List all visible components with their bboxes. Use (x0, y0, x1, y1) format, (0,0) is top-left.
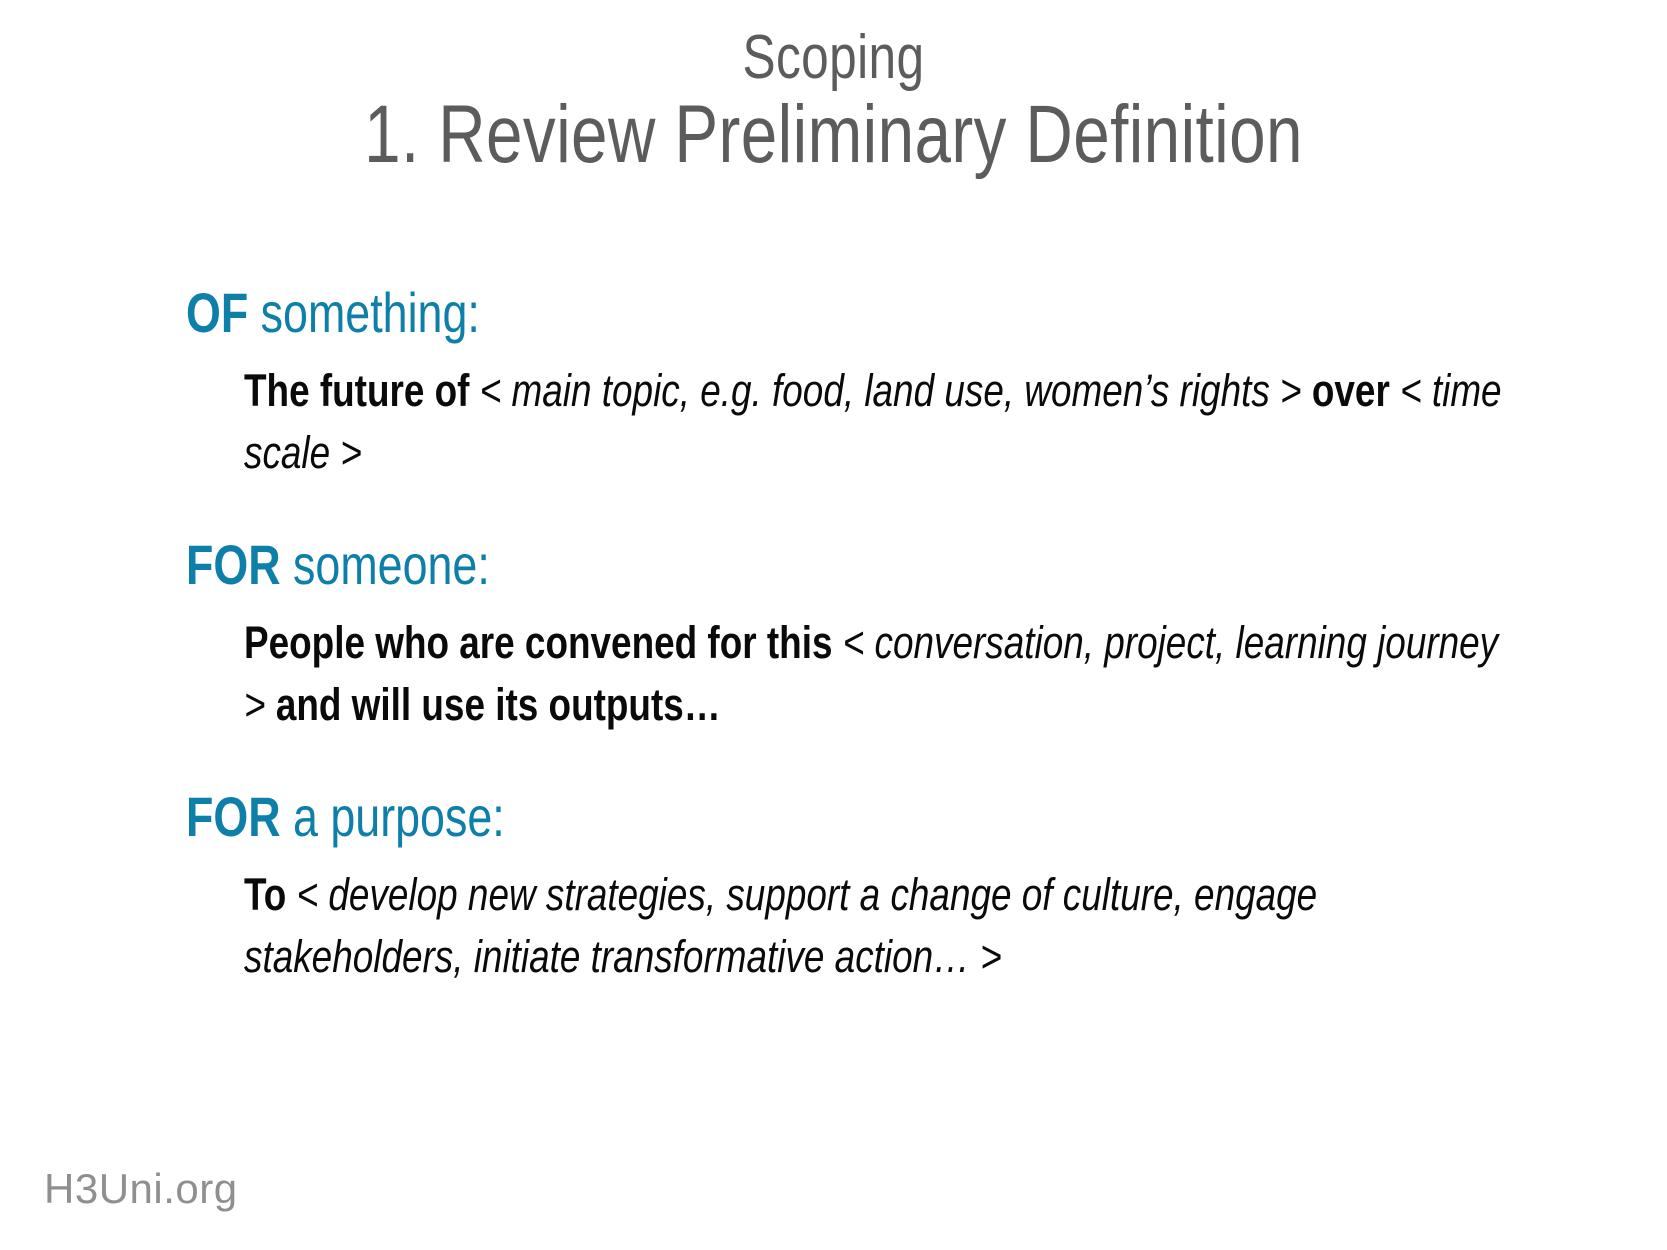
section-body-for-someone: People who are convened for this < conve… (244, 612, 1523, 736)
section-body-of-something: The future of < main topic, e.g. food, l… (244, 360, 1523, 484)
body-phrase-italic-2: women’s rights > (1024, 365, 1301, 416)
body-phrase-bold: People who are convened for this (244, 617, 832, 668)
body-phrase-bold: To (244, 869, 286, 920)
slide-title-block: Scoping 1. Review Preliminary Definition (0, 26, 1667, 178)
page-title: 1. Review Preliminary Definition (167, 92, 1501, 178)
section-for-a-purpose: FOR a purpose: To < develop new strategi… (186, 788, 1516, 988)
body-phrase-bold-2: over (1312, 365, 1390, 416)
slide-content: OF something: The future of < main topic… (186, 284, 1516, 988)
section-heading-keyword: OF (186, 281, 248, 344)
footer-watermark: H3Uni.org (44, 1166, 238, 1212)
slide-canvas: Scoping 1. Review Preliminary Definition… (0, 0, 1667, 1250)
section-heading-for-someone: FOR someone: (186, 536, 1250, 594)
page-title-overline: Scoping (167, 26, 1501, 90)
section-heading-for-a-purpose: FOR a purpose: (186, 788, 1250, 846)
section-body-for-a-purpose: To < develop new strategies, support a c… (244, 864, 1523, 988)
body-phrase-bold-2: and will use its outputs… (276, 679, 721, 730)
section-heading-rest: something: (248, 281, 480, 344)
section-heading-keyword: FOR (186, 533, 281, 596)
body-phrase-italic: < main topic, e.g. food, land use, (480, 365, 1014, 416)
section-of-something: OF something: The future of < main topic… (186, 284, 1516, 484)
section-for-someone: FOR someone: People who are convened for… (186, 536, 1516, 736)
body-phrase-bold: The future of (244, 365, 469, 416)
body-phrase-italic: < conversation, project, (843, 617, 1226, 668)
section-heading-rest: a purpose: (281, 785, 505, 848)
section-heading-rest: someone: (281, 533, 490, 596)
section-heading-of-something: OF something: (186, 284, 1250, 342)
section-heading-keyword: FOR (186, 785, 281, 848)
body-phrase-italic: < develop new strategies, support a chan… (297, 869, 1184, 920)
